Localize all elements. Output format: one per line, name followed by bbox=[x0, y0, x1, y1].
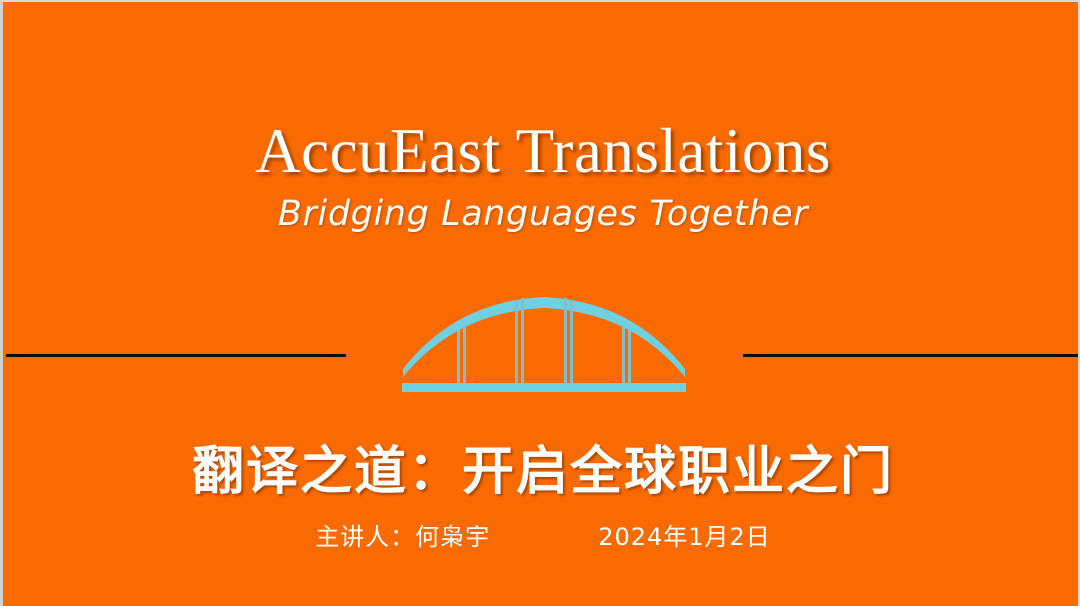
divider-line-left bbox=[6, 354, 346, 357]
byline-row: 主讲人：何枭宇 2024年1月2日 bbox=[3, 520, 1080, 554]
presentation-date: 2024年1月2日 bbox=[598, 520, 771, 554]
arch-bridge-svg bbox=[396, 285, 692, 397]
chinese-headline: 翻译之道：开启全球职业之门 bbox=[3, 439, 1080, 505]
speaker-name: 主讲人：何枭宇 bbox=[315, 520, 490, 554]
bridge-arch bbox=[403, 297, 685, 377]
arch-bridge-icon bbox=[396, 285, 692, 397]
presentation-title-slide: AccuEast Translations Bridging Languages… bbox=[0, 0, 1080, 606]
page-title: AccuEast Translations bbox=[3, 114, 1080, 188]
divider-line-right bbox=[743, 354, 1080, 357]
bridge-deck bbox=[402, 383, 686, 392]
page-subtitle: Bridging Languages Together bbox=[3, 192, 1080, 236]
